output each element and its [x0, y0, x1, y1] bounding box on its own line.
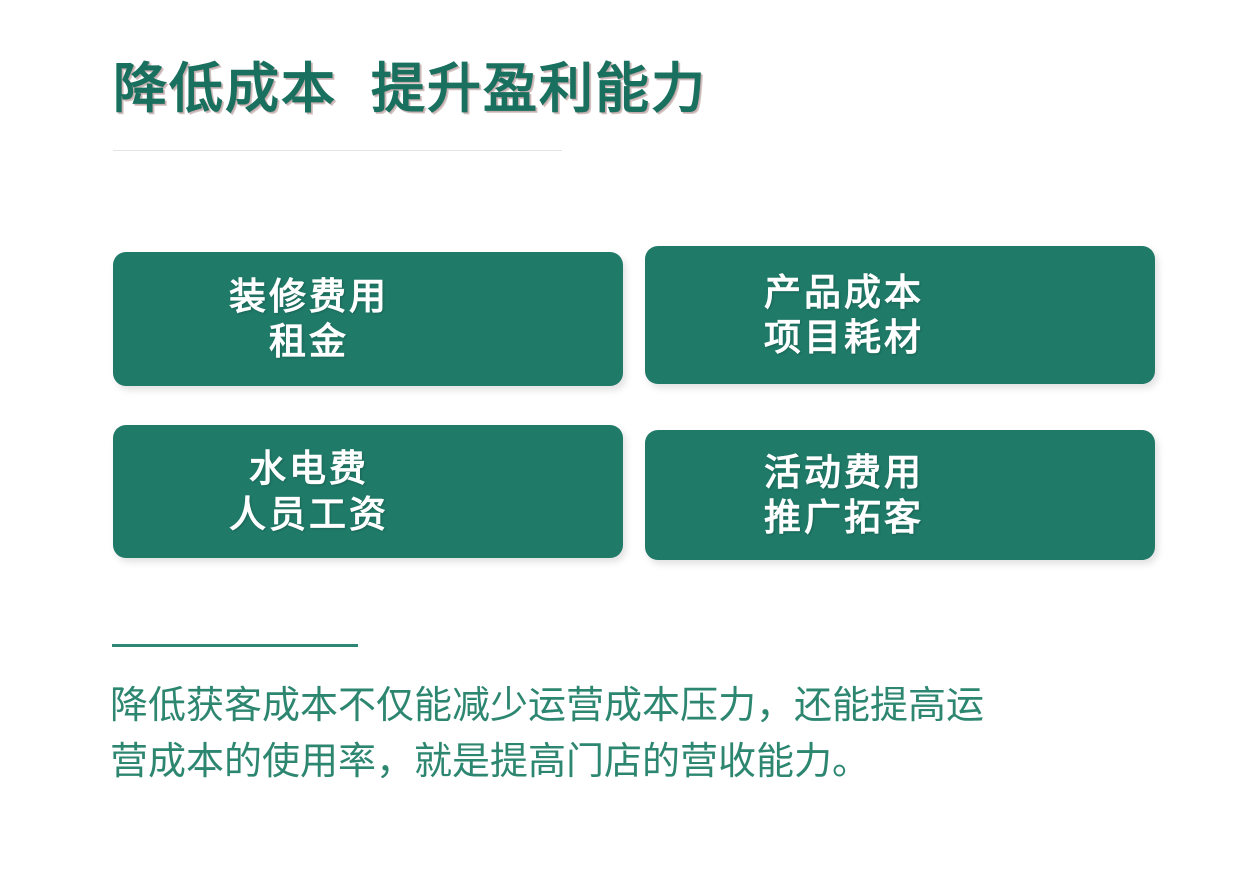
footer-divider: [112, 644, 358, 647]
cost-card-line-2: 人员工资: [229, 492, 389, 537]
footer-paragraph-line-2: 营成本的使用率，就是提高门店的营收能力。: [110, 734, 1110, 790]
cost-card-line-2: 租金: [269, 319, 349, 364]
cost-card-decoration-rent[interactable]: 装修费用 租金: [113, 252, 623, 386]
footer-paragraph: 降低获客成本不仅能减少运营成本压力，还能提高运 营成本的使用率，就是提高门店的营…: [110, 678, 1110, 790]
cost-card-line-1: 水电费: [249, 446, 369, 491]
title-divider: [113, 150, 562, 151]
cost-card-line-1: 活动费用: [764, 450, 924, 495]
cost-card-line-2: 推广拓客: [764, 495, 924, 540]
cost-card-line-1: 产品成本: [764, 270, 924, 315]
footer-paragraph-line-1: 降低获客成本不仅能减少运营成本压力，还能提高运: [110, 678, 1110, 734]
cost-card-line-1: 装修费用: [229, 274, 389, 319]
page-title: 降低成本 提升盈利能力: [113, 58, 1133, 120]
cost-cards-grid: 装修费用 租金 产品成本 项目耗材 水电费 人员工资 活动费用 推广拓客: [113, 246, 1155, 560]
page-header: 降低成本 提升盈利能力: [113, 58, 1133, 120]
cost-card-product-materials[interactable]: 产品成本 项目耗材: [645, 246, 1155, 384]
slide-page: 降低成本 提升盈利能力 装修费用 租金 产品成本 项目耗材 水电费 人员工资 活…: [0, 0, 1242, 878]
cost-card-marketing-promotion[interactable]: 活动费用 推广拓客: [645, 430, 1155, 560]
cost-card-utilities-salary[interactable]: 水电费 人员工资: [113, 425, 623, 558]
cost-card-line-2: 项目耗材: [764, 315, 924, 360]
